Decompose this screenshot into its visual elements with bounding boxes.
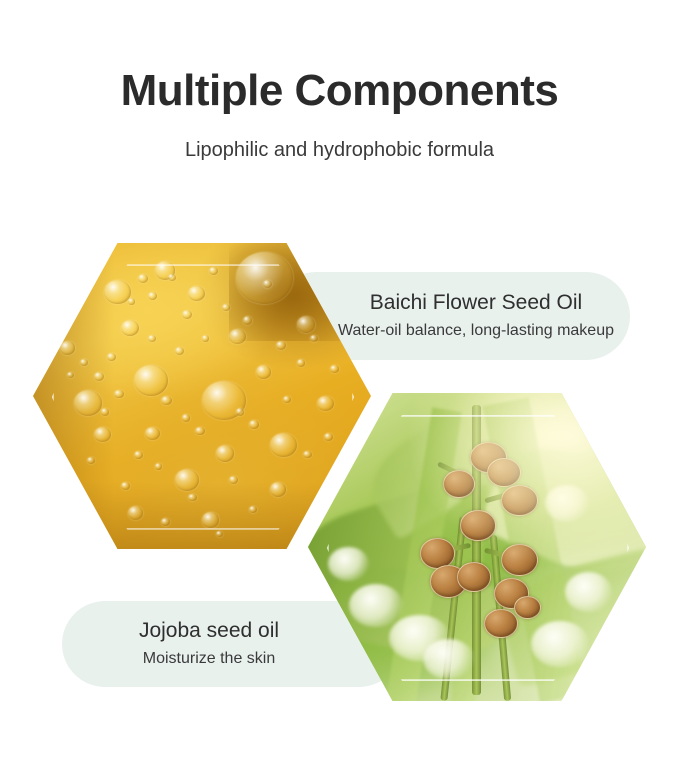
ingredient-card-title: Baichi Flower Seed Oil (370, 291, 582, 315)
header: Multiple Components Lipophilic and hydro… (0, 66, 679, 162)
ingredient-card-title: Jojoba seed oil (139, 619, 279, 643)
page-title: Multiple Components (0, 66, 679, 115)
ingredient-card-subtitle: Moisturize the skin (143, 643, 276, 668)
ingredient-card-subtitle: Water-oil balance, long-lasting makeup (338, 315, 614, 340)
page-subtitle: Lipophilic and hydrophobic formula (0, 115, 679, 162)
product-feature-panel: Multiple Components Lipophilic and hydro… (0, 0, 679, 766)
